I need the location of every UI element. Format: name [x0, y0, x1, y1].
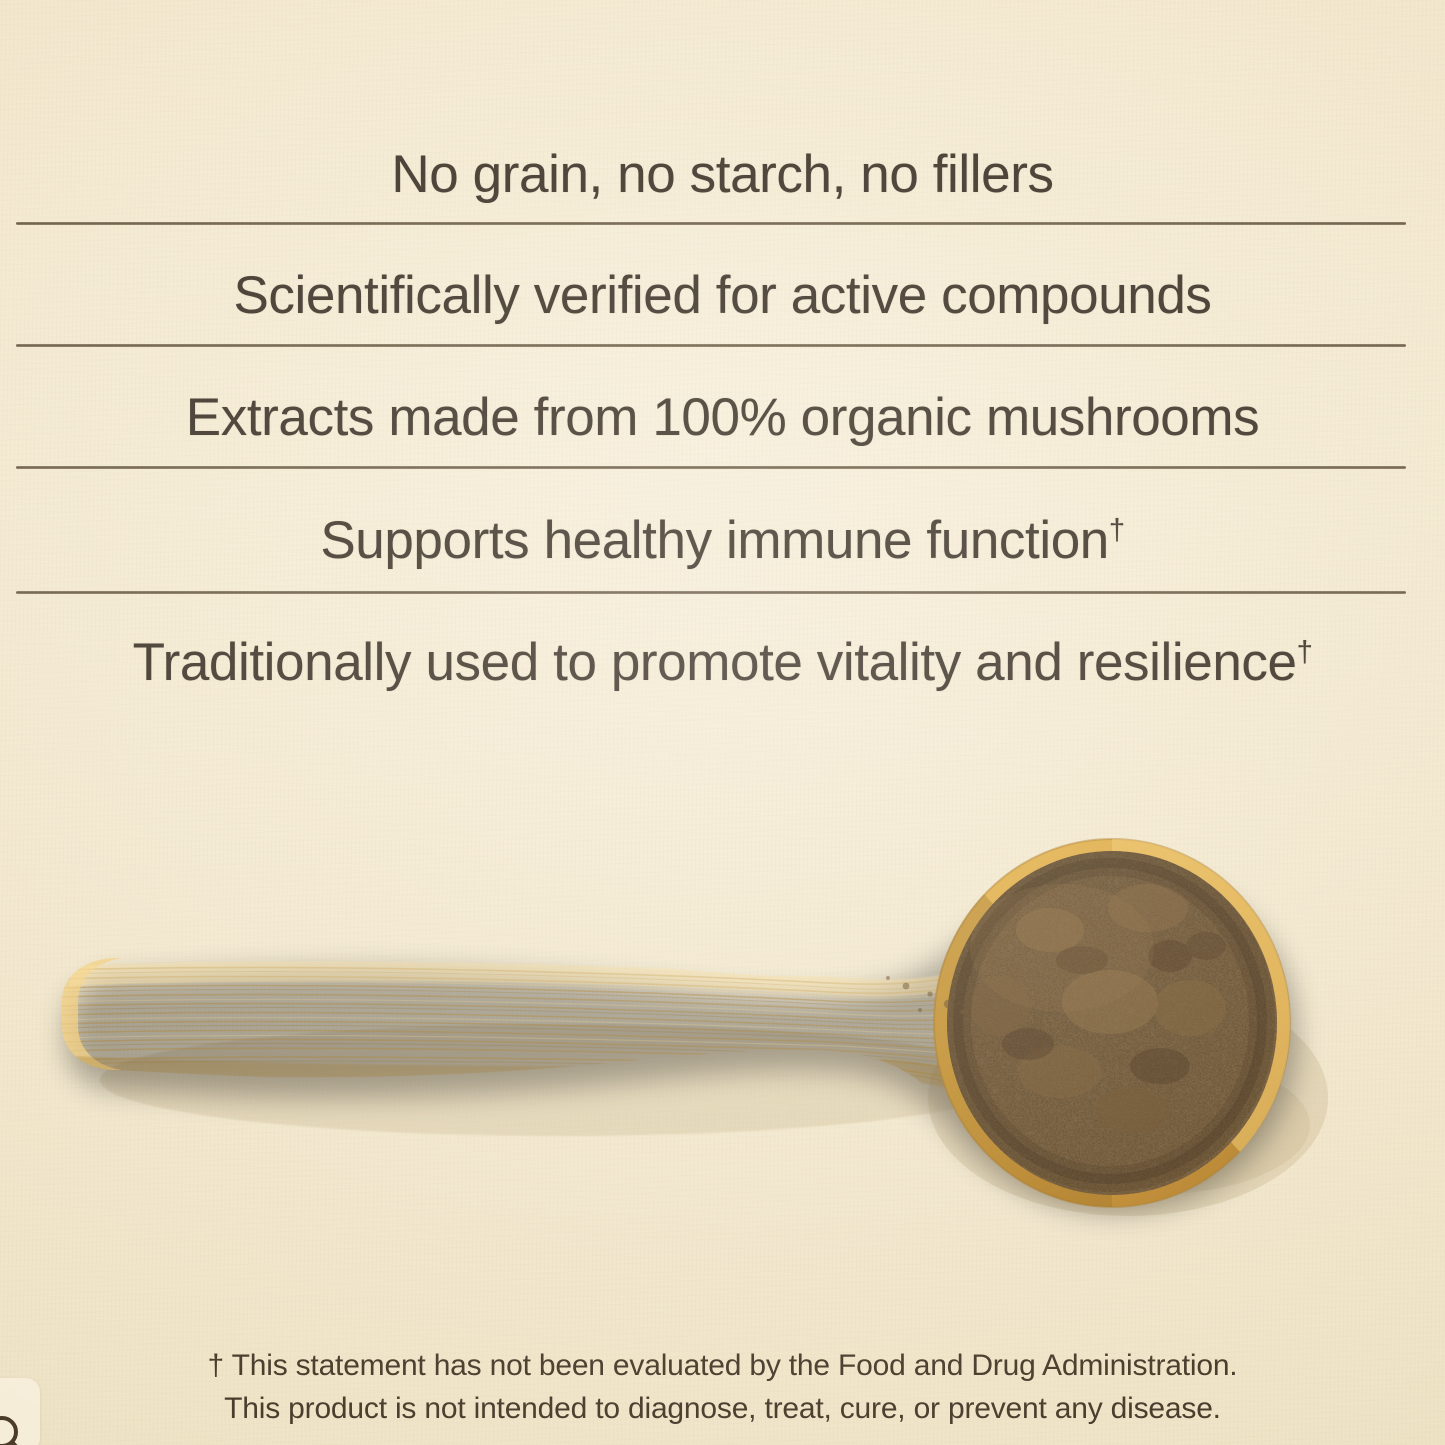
claim-text: Extracts made from 100% organic mushroom… [186, 389, 1259, 447]
claim-row: No grain, no starch, no fillers [0, 138, 1445, 212]
claim-row: Traditionally used to promote vitality a… [0, 625, 1445, 701]
claim-row: Scientifically verified for active compo… [0, 258, 1445, 334]
claim-divider [16, 466, 1406, 469]
claim-text: Supports healthy immune function† [320, 512, 1124, 570]
search-icon [0, 1408, 36, 1445]
claim-text: No grain, no starch, no fillers [391, 146, 1053, 204]
search-button[interactable] [0, 1378, 40, 1445]
fda-disclaimer-line-2: This product is not intended to diagnose… [0, 1388, 1445, 1431]
claim-divider [16, 591, 1406, 594]
claim-text: Scientifically verified for active compo… [233, 267, 1211, 325]
claim-row: Supports healthy immune function† [0, 503, 1445, 579]
dagger-mark: † [1297, 636, 1313, 668]
wooden-spoon-with-mushroom-powder-image [0, 780, 1445, 1280]
fda-disclaimer: † This statement has not been evaluated … [0, 1345, 1445, 1430]
claim-text: Traditionally used to promote vitality a… [133, 634, 1313, 692]
claim-row: Extracts made from 100% organic mushroom… [0, 380, 1445, 456]
product-claims-card: No grain, no starch, no fillers Scientif… [0, 0, 1445, 1445]
claim-divider [16, 344, 1406, 347]
dagger-mark: † [1109, 514, 1125, 546]
fda-disclaimer-line-1: † This statement has not been evaluated … [0, 1345, 1445, 1388]
claim-divider [16, 222, 1406, 225]
